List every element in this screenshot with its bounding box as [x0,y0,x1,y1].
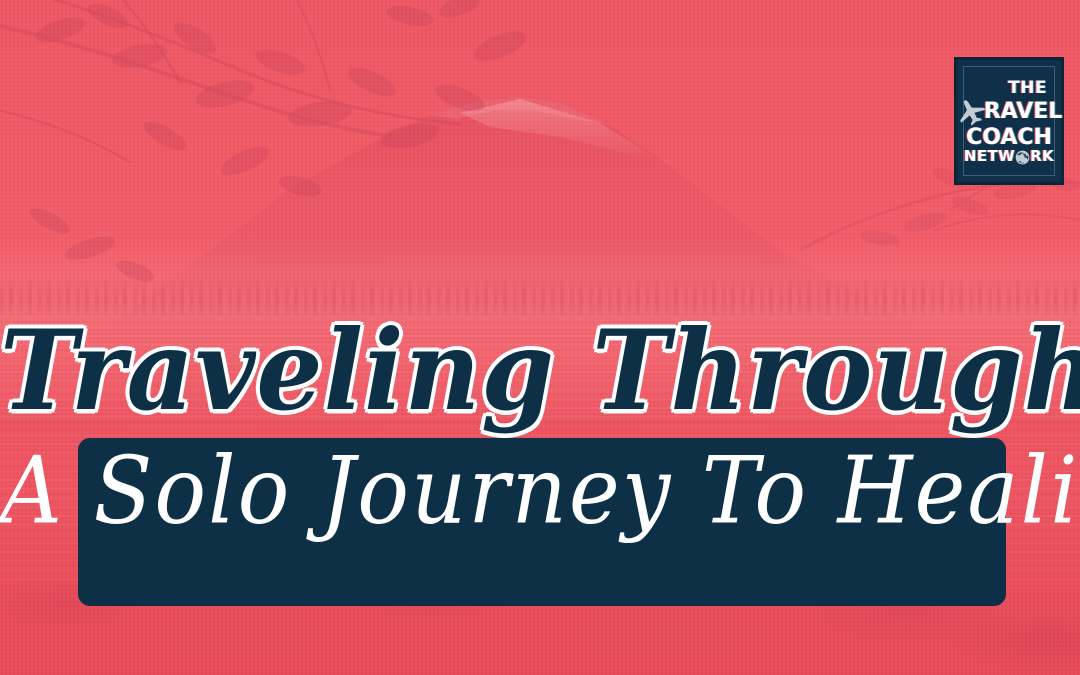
podcast-cover-banner: Traveling Through Loss A Solo Journey To… [0,0,1080,675]
globe-icon [1015,150,1030,165]
logo-text-ravel: RAVEL [984,101,1063,123]
logo-inner-frame: THE RAVEL COACH NETW [963,66,1055,176]
logo-text-netw: NETW [964,149,1015,164]
logo-row-network: NETW RK [969,149,1049,164]
logo-row-the: THE [967,80,1051,97]
logo-row-coach: COACH [969,127,1049,149]
branch-icon [0,0,550,316]
logo-text-the: THE [1008,80,1047,97]
logo-text-rk: RK [1030,149,1054,164]
logo-text-coach: COACH [966,127,1052,149]
title-plate [78,438,1006,606]
logo-badge[interactable]: THE RAVEL COACH NETW [954,57,1064,185]
airplane-icon [956,97,986,127]
logo-row-ravel: RAVEL [969,97,1049,127]
